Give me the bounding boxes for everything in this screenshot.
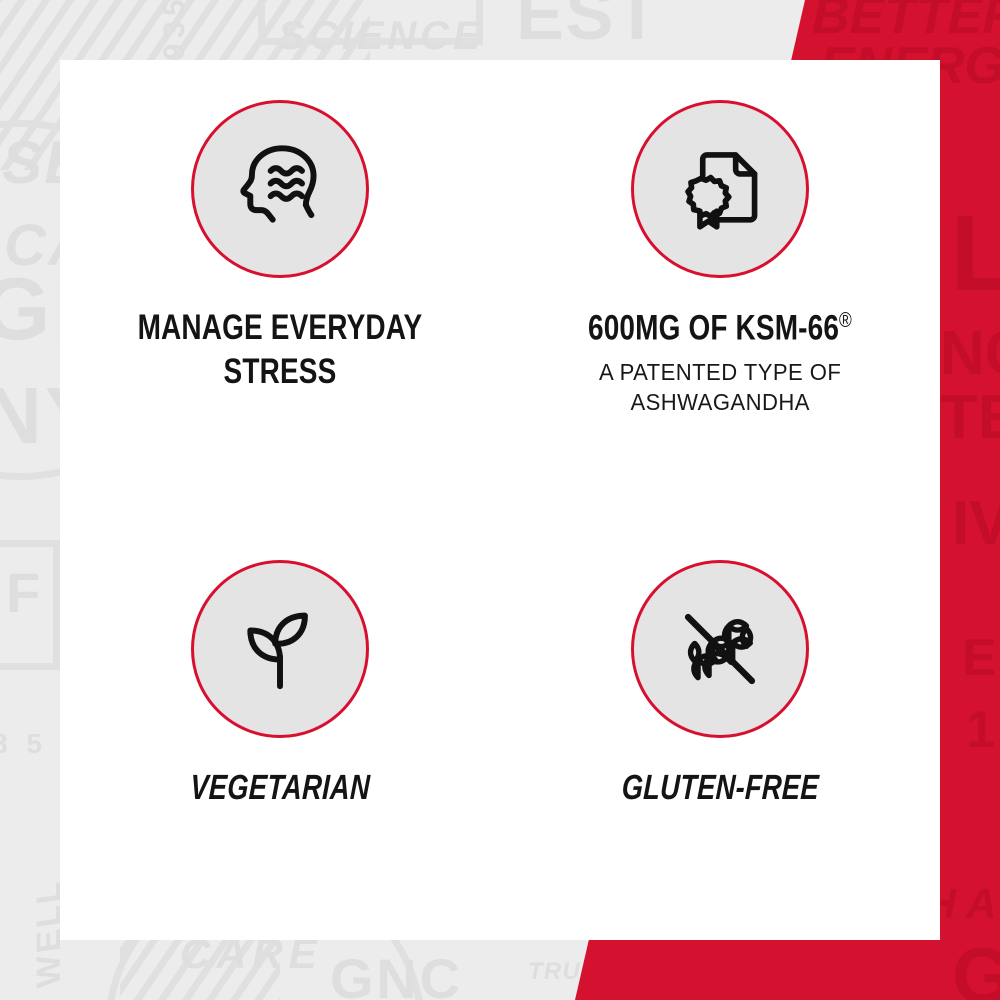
badge-ksm-66-dose (631, 100, 809, 278)
certificate-document-icon (666, 135, 774, 243)
benefits-card: MANAGE EVERYDAY STRESS (60, 60, 940, 940)
watermark-gnc: GNC (330, 946, 463, 1000)
red-watermark-nce: NCE (940, 318, 1000, 389)
watermark-85: 8 5 (0, 728, 48, 760)
feature-title-gluten-free: GLUTEN-FREE (621, 766, 820, 810)
benefits-grid: MANAGE EVERYDAY STRESS (60, 60, 940, 940)
feature-gluten-free: GLUTEN-FREE (500, 500, 940, 940)
registered-trademark-symbol: ® (839, 307, 852, 332)
badge-gluten-free (631, 560, 809, 738)
feature-title-line1: 600MG OF KSM-66 (588, 309, 839, 348)
watermark-science: SCIENCE (278, 14, 484, 59)
watermark-f: F (6, 560, 42, 625)
feature-subtitle-line1: A PATENTED TYPE OF (599, 358, 841, 388)
product-benefits-infographic: 1935 SCIENCE EST SEL CAR GN NY F 8 5 LIV… (0, 0, 1000, 1000)
sprout-leaf-icon (227, 596, 333, 702)
feature-subtitle-line2: ASHWAGANDHA (599, 388, 841, 418)
no-wheat-icon (665, 594, 775, 704)
feature-title-line2: STRESS (138, 350, 423, 394)
feature-title-ksm-66-dose: 600MG OF KSM-66® (588, 306, 852, 350)
red-watermark-1: 1 (966, 700, 995, 760)
feature-title-vegetarian: VEGETARIAN (189, 766, 370, 810)
red-watermark-iv: IV (952, 488, 1000, 559)
red-watermark-e: E (962, 628, 997, 688)
red-watermark-l: L (950, 190, 1000, 315)
red-watermark-g: G (952, 930, 1000, 1000)
feature-title-manage-everyday-stress: MANAGE EVERYDAY STRESS (138, 306, 423, 394)
badge-vegetarian (191, 560, 369, 738)
watermark-est: EST (516, 0, 660, 56)
red-watermark-ted: TED (940, 382, 1000, 453)
feature-manage-everyday-stress: MANAGE EVERYDAY STRESS (60, 60, 500, 500)
feature-subtitle-ksm-66-dose: A PATENTED TYPE OF ASHWAGANDHA (599, 358, 841, 418)
feature-title-line1: MANAGE EVERYDAY (138, 306, 423, 350)
badge-manage-everyday-stress (191, 100, 369, 278)
feature-vegetarian: VEGETARIAN (60, 500, 500, 940)
head-stress-icon (225, 134, 335, 244)
feature-ksm-66-dose: 600MG OF KSM-66® A PATENTED TYPE OF ASHW… (500, 60, 940, 500)
